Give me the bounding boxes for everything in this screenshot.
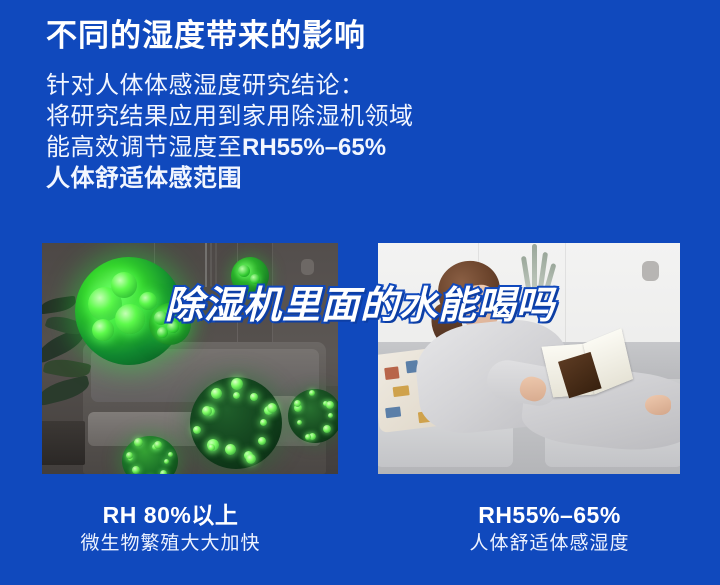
person-foot (645, 395, 671, 415)
plant-pot-icon (42, 421, 85, 465)
summary-line-3-emphasis: RH55%–65% (242, 134, 386, 161)
header-block: 不同的湿度带来的影响 针对人体体感湿度研究结论： 将研究结果应用到家用除湿机领域… (46, 14, 666, 194)
wall-lamp-icon (301, 259, 314, 275)
summary-line-1: 针对人体体感湿度研究结论： (46, 70, 666, 101)
virus-icon (190, 377, 282, 469)
summary-line-2: 将研究结果应用到家用除湿机领域 (46, 101, 666, 132)
summary-line-3-prefix: 能高效调节湿度至 (46, 134, 242, 161)
overlay-title: 除湿机里面的水能喝吗 (0, 274, 720, 329)
caption-sub-label: 微生物繁殖大大加快 (0, 530, 341, 557)
caption-row: RH 80%以上 微生物繁殖大大加快 RH55%–65% 人体舒适体感湿度 (0, 500, 720, 557)
summary-line-4: 人体舒适体感范围 (46, 163, 666, 194)
caption-high-humidity: RH 80%以上 微生物繁殖大大加快 (0, 500, 369, 557)
page-title: 不同的湿度带来的影响 (46, 14, 666, 58)
poster-root: 不同的湿度带来的影响 针对人体体感湿度研究结论： 将研究结果应用到家用除湿机领域… (0, 0, 720, 585)
summary-line-3: 能高效调节湿度至RH55%–65% (46, 132, 666, 163)
caption-main-label: RH55%–65% (379, 500, 720, 530)
caption-main-label: RH 80%以上 (0, 500, 341, 530)
caption-comfort-humidity: RH55%–65% 人体舒适体感湿度 (369, 500, 720, 557)
virus-icon (288, 389, 338, 443)
summary-paragraph: 针对人体体感湿度研究结论： 将研究结果应用到家用除湿机领域 能高效调节湿度至RH… (46, 70, 666, 194)
caption-sub-label: 人体舒适体感湿度 (379, 530, 720, 557)
